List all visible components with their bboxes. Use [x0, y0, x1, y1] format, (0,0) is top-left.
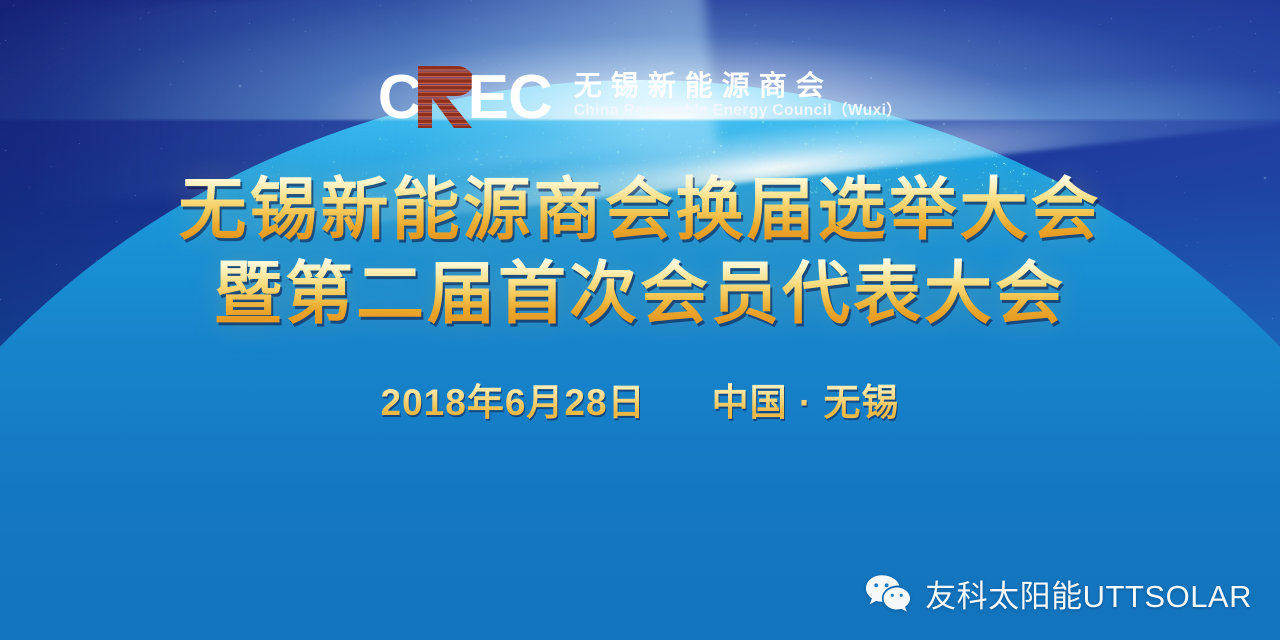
crec-acronym: C	[378, 66, 552, 126]
wechat-watermark: 友科太阳能UTTSOLAR	[865, 571, 1252, 616]
watermark-label: 友科太阳能UTTSOLAR	[925, 571, 1252, 616]
crec-logo: C	[0, 66, 1280, 126]
striped-r-icon	[416, 66, 474, 128]
event-date: 2018年6月28日	[381, 372, 646, 426]
event-meta: 2018年6月28日 中国 · 无锡	[0, 372, 1280, 426]
earth-globe	[0, 80, 1280, 640]
headline-line-2: 暨第二届首次会员代表大会	[0, 256, 1280, 334]
org-name-en: China Renewable Energy Council（Wuxi）	[574, 103, 902, 119]
earth-surface	[0, 80, 1280, 640]
headline-line-1: 无锡新能源商会换届选举大会	[0, 172, 1280, 250]
poster-canvas: C	[0, 0, 1280, 640]
organization-name: 无锡新能源商会 China Renewable Energy Council（W…	[574, 72, 902, 121]
logo-letter-c2: C	[508, 69, 552, 126]
logo-letter-e: E	[468, 69, 508, 126]
event-headline: 无锡新能源商会换届选举大会 暨第二届首次会员代表大会	[0, 172, 1280, 333]
org-name-cn: 无锡新能源商会	[574, 72, 902, 100]
wechat-icon	[865, 574, 911, 614]
event-location: 中国 · 无锡	[712, 372, 900, 426]
